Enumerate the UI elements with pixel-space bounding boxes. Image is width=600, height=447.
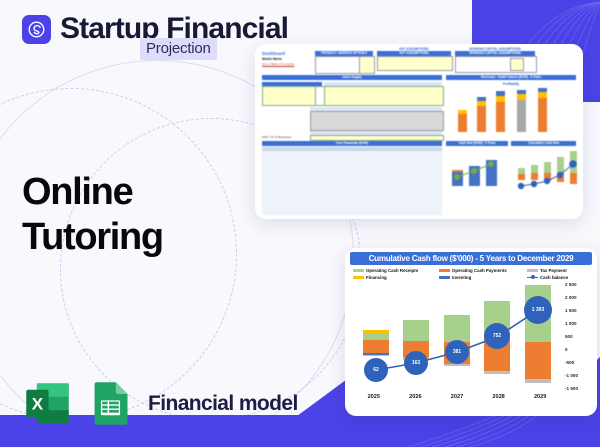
headline-line-1: Online	[22, 170, 163, 215]
spiral-e-logo-icon	[22, 15, 51, 44]
legend-item-investing[interactable]: Investing	[439, 275, 527, 280]
legend-item-tax-payment[interactable]: Tax Payment	[527, 268, 587, 273]
google-sheets-icon	[85, 378, 136, 429]
dashboard-preview-card[interactable]: Dashboard Model Name Go to Table of Cont…	[255, 44, 583, 219]
cumulative-cashflow-chart-card[interactable]: Cumulative Cash flow ($'000) - 5 Years t…	[345, 248, 597, 416]
x-tick-2029: 2029	[519, 394, 561, 406]
footer-label: Financial model	[148, 392, 298, 416]
poster-canvas: Startup Financial Projection Online Tuto…	[0, 0, 600, 447]
y-tick: -1 500	[565, 386, 578, 391]
legend-swatch	[439, 269, 450, 272]
legend-swatch	[353, 276, 364, 279]
legend-label: Operating Cash Receipts	[366, 268, 418, 273]
data-point-2025[interactable]: 62	[364, 358, 388, 382]
x-tick-2027: 2027	[436, 394, 478, 406]
legend-label: Financing	[366, 275, 387, 280]
chart-plot-area: 62 163 381 752 1 393	[353, 282, 561, 388]
y-tick: 500	[565, 334, 573, 339]
data-point-2028[interactable]: 752	[484, 323, 510, 349]
y-tick: 0	[565, 347, 568, 352]
legend-label: Operating Cash Payments	[452, 268, 507, 273]
x-tick-2026: 2026	[395, 394, 437, 406]
data-point-2026[interactable]: 163	[404, 351, 428, 375]
legend-item-financing[interactable]: Financing	[353, 275, 439, 280]
footer-row: X Financial model	[22, 378, 298, 429]
data-point-2029[interactable]: 1 393	[524, 296, 552, 324]
legend-swatch	[353, 269, 364, 272]
x-tick-2025: 2025	[353, 394, 395, 406]
x-tick-2028: 2028	[478, 394, 520, 406]
legend-swatch	[439, 276, 450, 279]
legend-item-operating-cash-receipts[interactable]: Operating Cash Receipts	[353, 268, 439, 273]
chart-legend: Operating Cash Receipts Operating Cash P…	[353, 268, 591, 280]
svg-text:X: X	[32, 394, 44, 413]
y-tick: 2 000	[565, 295, 577, 300]
headline-line-2: Tutoring	[22, 215, 163, 260]
y-tick: 1 500	[565, 308, 577, 313]
legend-line-marker	[527, 277, 538, 279]
brand-subtitle-badge: Projection	[140, 38, 217, 60]
chart-y-axis: 2 500 2 000 1 500 1 000 500 0 -500 -1 00…	[565, 280, 595, 392]
dashboard-preview-content: Dashboard Model Name Go to Table of Cont…	[255, 44, 583, 219]
chart-title: Cumulative Cash flow ($'000) - 5 Years t…	[350, 252, 592, 265]
y-tick: 1 000	[565, 321, 577, 326]
y-tick: 2 500	[565, 282, 577, 287]
data-point-2027[interactable]: 381	[445, 340, 469, 364]
y-tick: -500	[565, 360, 574, 365]
y-tick: -1 000	[565, 373, 578, 378]
legend-item-operating-cash-payments[interactable]: Operating Cash Payments	[439, 268, 527, 273]
legend-label: Tax Payment	[540, 268, 567, 273]
page-title: Online Tutoring	[22, 170, 163, 260]
chart-x-axis: 2025 2026 2027 2028 2029	[353, 394, 561, 406]
microsoft-excel-icon: X	[22, 378, 73, 429]
legend-swatch	[527, 269, 538, 272]
legend-label: Investing	[452, 275, 471, 280]
